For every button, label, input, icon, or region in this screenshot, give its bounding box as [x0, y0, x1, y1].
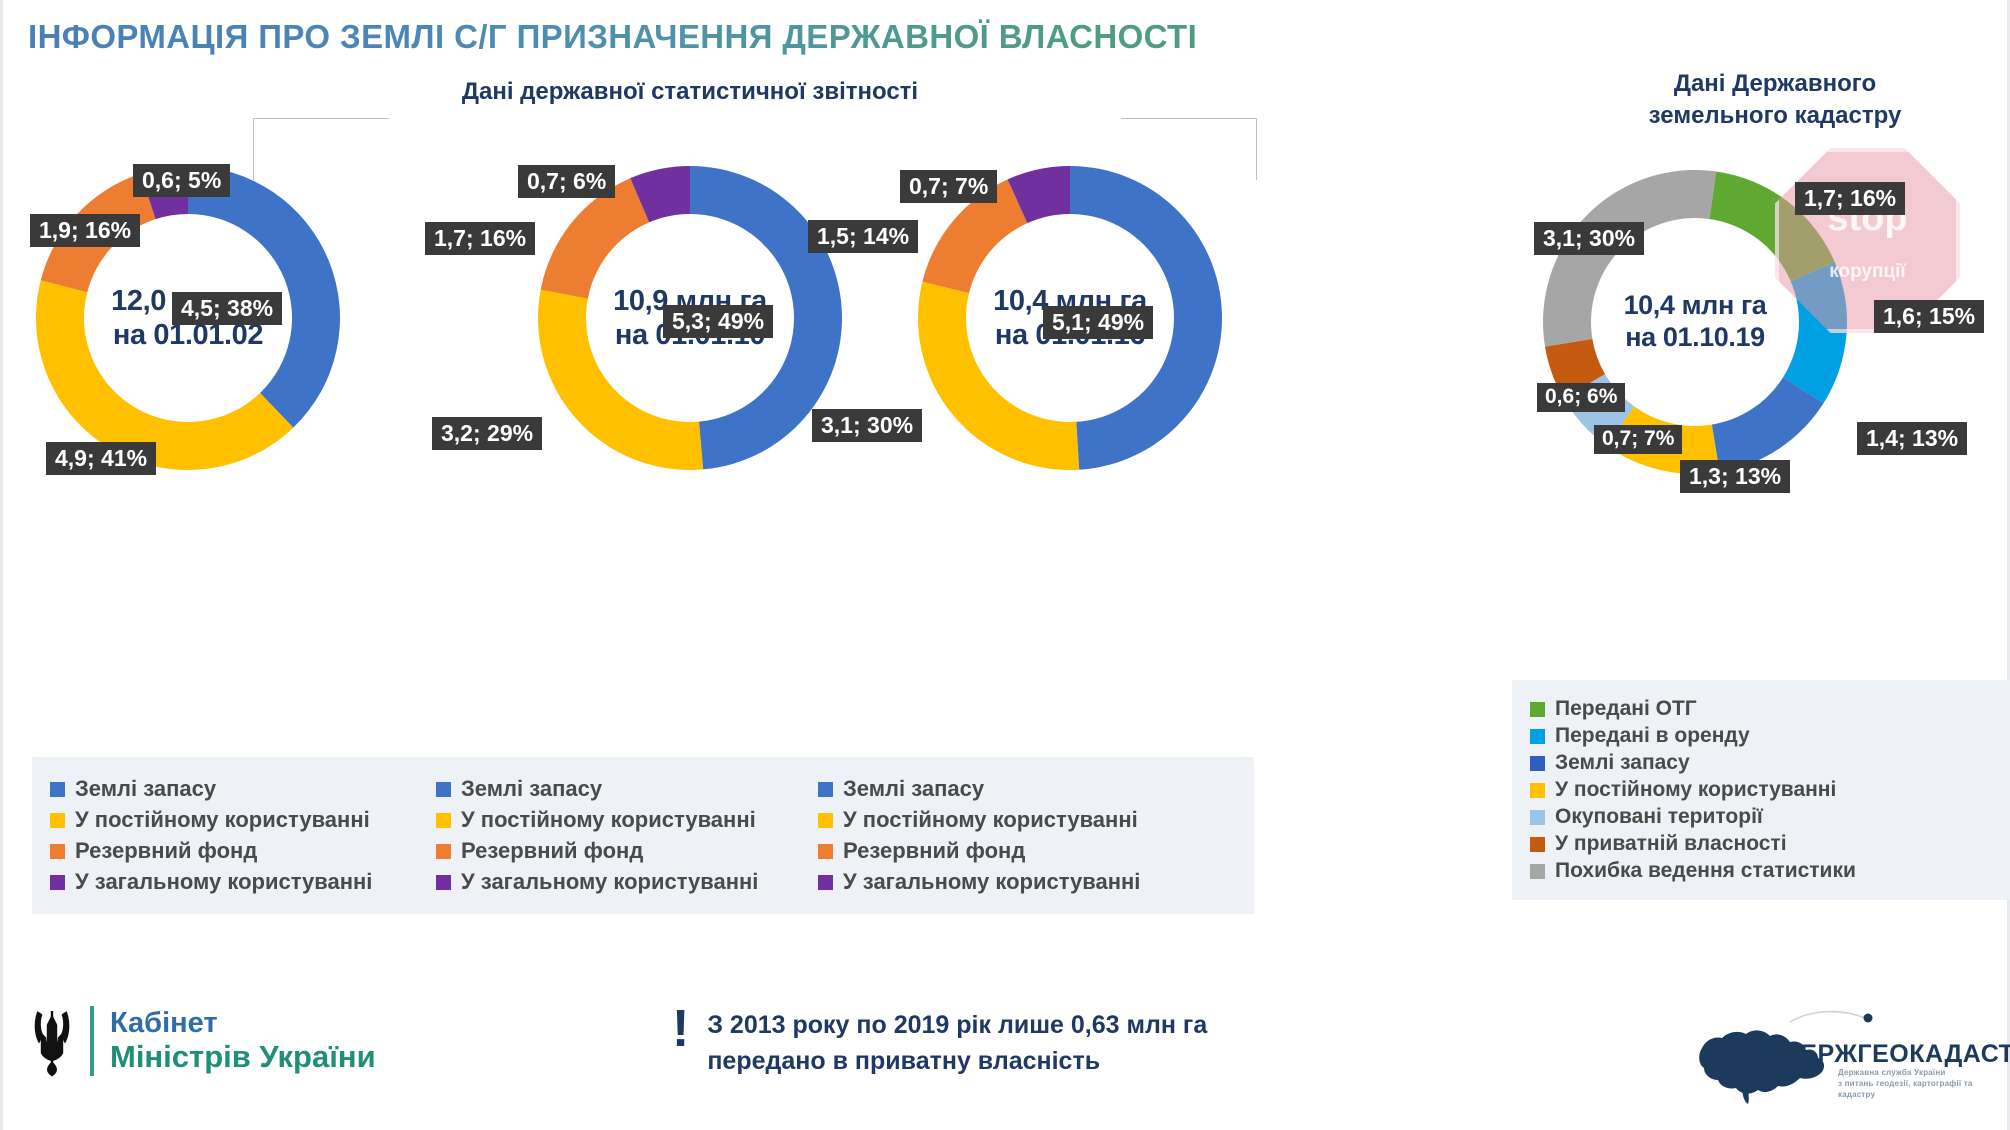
legend-item[interactable]: Окуповані території — [1530, 805, 2010, 829]
legend-item[interactable]: Похибка ведення статистики — [1530, 859, 2010, 883]
legend-swatch-orange-icon — [50, 844, 65, 859]
page-edge-left — [0, 0, 3, 1130]
legend-label: Резервний фонд — [75, 838, 257, 864]
legend-label: У постійному користуванні — [75, 807, 370, 833]
legend-label: Резервний фонд — [843, 838, 1025, 864]
legend-2019: Передані ОТГ Передані в оренду Землі зап… — [1512, 680, 2010, 900]
derzhgeokadastr-sub-line2: з питань геодезії, картографії та кадаст… — [1838, 1079, 1990, 1101]
cabinet-logo-line1: Кабінет — [110, 1008, 376, 1040]
logo-divider — [90, 1006, 94, 1076]
legend-item[interactable]: У загальному користуванні — [50, 869, 470, 895]
data-label-2010-blue: 5,3; 49% — [663, 305, 773, 338]
data-label-2010-orange: 1,7; 16% — [425, 222, 535, 255]
legend-item[interactable]: У постійному користуванні — [818, 807, 1238, 833]
section-header-cadastre: Дані Державного земельного кадастру — [1540, 68, 2010, 131]
legend-label: Землі запасу — [75, 776, 216, 802]
section-header-cadastre-line2: земельного кадастру — [1649, 102, 1902, 129]
derzhgeokadastr-sub-line1: Державна служба України — [1838, 1068, 1990, 1079]
legend-swatch-cyan-icon — [1530, 729, 1545, 744]
legend-swatch-blue-icon — [436, 782, 451, 797]
legend-label: Землі запасу — [461, 776, 602, 802]
legend-swatch-blue-icon — [818, 782, 833, 797]
footer-note-line1: З 2013 року по 2019 рік лише 0,63 млн га — [707, 1007, 1207, 1043]
section-header-statistical: Дані державної статистичної звітності — [380, 78, 1000, 106]
page-title: ІНФОРМАЦІЯ ПРО ЗЕМЛІ С/Г ПРИЗНАЧЕННЯ ДЕР… — [28, 18, 1197, 56]
legend-label: Землі запасу — [1555, 751, 1690, 775]
legend-item[interactable]: Резервний фонд — [436, 838, 856, 864]
data-label-2019-yellow: 1,3; 13% — [1680, 460, 1790, 493]
legend-label: У постійному користуванні — [1555, 778, 1836, 802]
legend-item[interactable]: У постійному користуванні — [1530, 778, 2010, 802]
derzhgeokadastr-name: ДЕРЖГЕОКАДАСТР — [1782, 1040, 2010, 1069]
data-label-2002-yellow: 4,9; 41% — [46, 442, 156, 475]
legend-item[interactable]: У постійному користуванні — [50, 807, 470, 833]
derzhgeokadastr-logo: ДЕРЖГЕОКАДАСТР Державна служба України з… — [1690, 1010, 1990, 1110]
legend-label: У загальному користуванні — [461, 869, 758, 895]
data-label-2002-blue: 4,5; 38% — [172, 292, 282, 325]
legend-swatch-gray-icon — [1530, 864, 1545, 879]
legend-item[interactable]: Передані ОТГ — [1530, 697, 2010, 721]
legend-label: У загальному користуванні — [75, 869, 372, 895]
donut-slice — [1543, 170, 1716, 347]
legend-item[interactable]: Землі запасу — [50, 776, 470, 802]
legend-swatch-lightblue-icon — [1530, 810, 1545, 825]
data-label-2016-blue: 5,1; 49% — [1043, 306, 1153, 339]
legend-item[interactable]: Землі запасу — [436, 776, 856, 802]
legend-label: Передані ОТГ — [1555, 697, 1697, 721]
legend-item[interactable]: Землі запасу — [1530, 751, 2010, 775]
footer-note-line2: передано в приватну власність — [707, 1043, 1207, 1079]
data-label-2010-purple: 0,7; 6% — [518, 165, 615, 198]
cabinet-of-ministers-logo: Кабінет Міністрів України — [28, 1005, 376, 1077]
cabinet-logo-line2: Міністрів України — [110, 1040, 376, 1074]
data-label-2019-darkorange: 0,6; 6% — [1537, 383, 1625, 412]
legend-swatch-blue-icon — [50, 782, 65, 797]
legend-swatch-yellow-icon — [818, 813, 833, 828]
derzhgeokadastr-subtitle: Державна служба України з питань геодезі… — [1838, 1068, 1990, 1100]
legend-swatch-purple-icon — [818, 875, 833, 890]
legend-swatch-yellow-icon — [1530, 783, 1545, 798]
data-label-2016-yellow: 3,1; 30% — [812, 409, 922, 442]
section-header-cadastre-line1: Дані Державного — [1674, 70, 1876, 97]
legend-swatch-purple-icon — [50, 875, 65, 890]
legend-swatch-yellow-icon — [436, 813, 451, 828]
legend-item[interactable]: Резервний фонд — [818, 838, 1238, 864]
legend-label: У приватній власності — [1555, 832, 1787, 856]
legend-swatch-orange-icon — [436, 844, 451, 859]
legend-swatch-yellow-icon — [50, 813, 65, 828]
data-label-2002-orange: 1,9; 16% — [30, 214, 140, 247]
legend-label: У постійному користуванні — [843, 807, 1138, 833]
legend-label: Землі запасу — [843, 776, 984, 802]
data-label-2019-gray: 3,1; 30% — [1534, 222, 1644, 255]
legend-item[interactable]: Резервний фонд — [50, 838, 470, 864]
data-label-2019-cyan: 1,6; 15% — [1874, 300, 1984, 333]
legend-label: У постійному користуванні — [461, 807, 756, 833]
legend-item[interactable]: У постійному користуванні — [436, 807, 856, 833]
data-label-2019-green: 1,7; 16% — [1795, 182, 1905, 215]
footer-note-text: З 2013 року по 2019 рік лише 0,63 млн га… — [707, 1007, 1207, 1080]
legend-label: Резервний фонд — [461, 838, 643, 864]
legend-swatch-purple-icon — [436, 875, 451, 890]
cabinet-logo-text: Кабінет Міністрів України — [110, 1008, 376, 1074]
legend-label: Передані в оренду — [1555, 724, 1750, 748]
data-label-2016-purple: 0,7; 7% — [900, 170, 997, 203]
legend-swatch-darkorange-icon — [1530, 837, 1545, 852]
legend-swatch-blue-icon — [1530, 756, 1545, 771]
data-label-2016-orange: 1,5; 14% — [808, 220, 918, 253]
legend-item[interactable]: Землі запасу — [818, 776, 1238, 802]
legend-item[interactable]: У загальному користуванні — [818, 869, 1238, 895]
exclamation-icon: ! — [672, 1009, 689, 1050]
data-label-2019-lightblue: 0,7; 7% — [1594, 425, 1682, 454]
legend-label: Похибка ведення статистики — [1555, 859, 1856, 883]
ukraine-trident-icon — [28, 1005, 76, 1077]
legend-swatch-orange-icon — [818, 844, 833, 859]
legend-item[interactable]: У приватній власності — [1530, 832, 2010, 856]
legend-item[interactable]: У загальному користуванні — [436, 869, 856, 895]
data-label-2019-blue: 1,4; 13% — [1857, 422, 1967, 455]
legend-item[interactable]: Передані в оренду — [1530, 724, 2010, 748]
data-label-2002-purple: 0,6; 5% — [133, 164, 230, 197]
legend-label: У загальному користуванні — [843, 869, 1140, 895]
legend-2016: Землі запасу У постійному користуванні Р… — [800, 757, 1254, 914]
legend-swatch-green-icon — [1530, 702, 1545, 717]
legend-label: Окуповані території — [1555, 805, 1763, 829]
data-label-2010-yellow: 3,2; 29% — [432, 417, 542, 450]
footer-note: ! З 2013 року по 2019 рік лише 0,63 млн … — [672, 1007, 1207, 1080]
donut-slice — [1783, 262, 1847, 403]
